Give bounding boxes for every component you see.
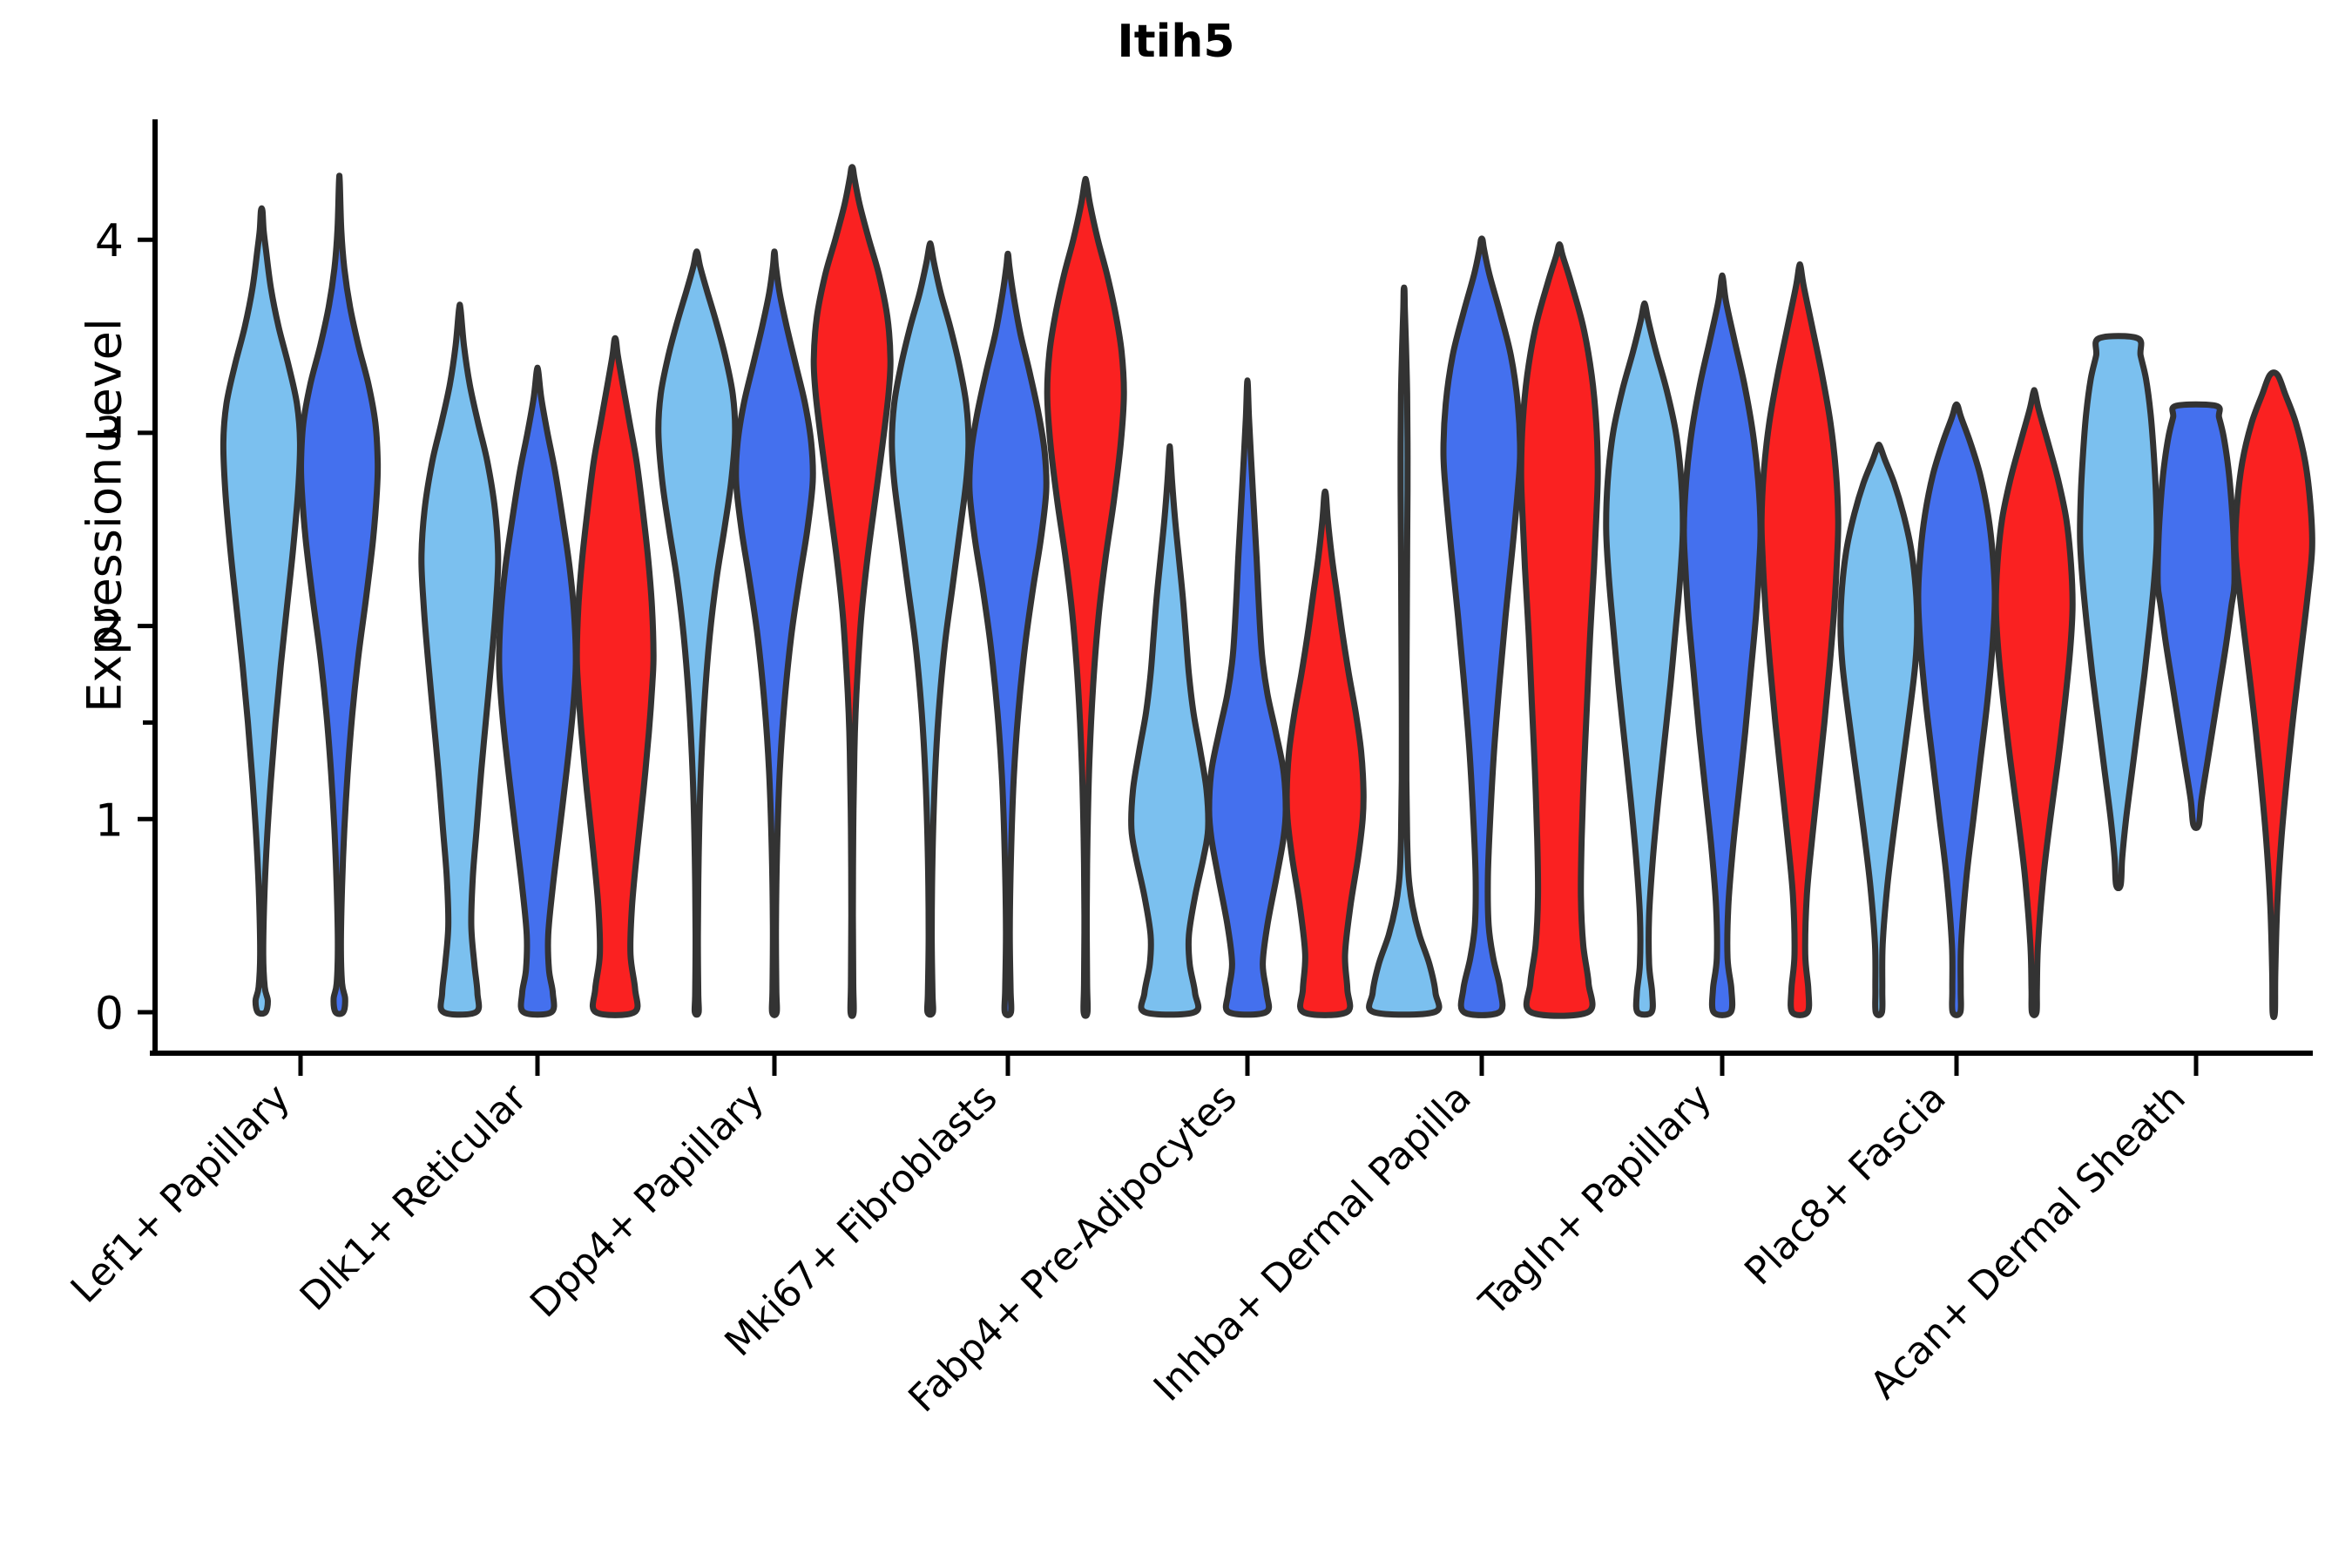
plot-canvas: 01234 Lef1+ PapillaryDlk1+ ReticularDpp4… <box>0 0 2352 1568</box>
violin-4-blue <box>970 253 1046 1015</box>
y-tick-label: 0 <box>95 988 124 1040</box>
violin-8-red <box>1996 390 2072 1015</box>
x-tick-label-1: Lef1+ Papillary <box>63 1076 299 1312</box>
violin-2-blue <box>499 368 576 1015</box>
violin-9-blue <box>2158 404 2234 828</box>
violin-7-red <box>1761 264 1838 1015</box>
violin-3-light-blue <box>659 252 735 1015</box>
x-tick-label-3: Dpp4+ Papillary <box>522 1076 773 1327</box>
violin-6-blue <box>1443 239 1520 1016</box>
violin-6-red <box>1521 244 1598 1016</box>
violin-8-light-blue <box>1841 444 1917 1015</box>
violin-2-red <box>577 338 653 1015</box>
violin-5-red <box>1287 491 1363 1015</box>
violin-8-blue <box>1918 404 1995 1015</box>
violin-3-blue <box>736 252 813 1016</box>
violin-1-light-blue <box>223 208 300 1013</box>
x-tick-labels-layer: Lef1+ PapillaryDlk1+ ReticularDpp4+ Papi… <box>63 1053 2196 1421</box>
x-tick-label-2: Dlk1+ Reticular <box>292 1075 537 1320</box>
violin-7-blue <box>1684 275 1761 1015</box>
violin-9-light-blue <box>2080 336 2157 889</box>
violin-5-light-blue <box>1132 446 1208 1014</box>
violin-6-light-blue <box>1369 287 1440 1015</box>
y-tick-label: 3 <box>95 409 124 461</box>
y-tick-label: 1 <box>95 794 124 847</box>
violin-3-red <box>814 167 890 1016</box>
violin-7-light-blue <box>1606 303 1683 1014</box>
x-tick-label-8: Plac8+ Fascia <box>1736 1076 1955 1294</box>
violins-layer <box>223 167 2312 1017</box>
violin-9-red <box>2235 373 2312 1017</box>
x-tick-label-7: TagIn+ Papillary <box>1470 1076 1720 1326</box>
violin-4-light-blue <box>892 243 969 1014</box>
violin-5-blue <box>1209 381 1286 1015</box>
violin-1-blue <box>301 176 377 1014</box>
violin-plot-figure: Itih5 Expression Level 01234 Lef1+ Papil… <box>0 0 2352 1568</box>
y-tick-label: 4 <box>95 215 124 267</box>
violin-4-red <box>1047 179 1124 1016</box>
y-tick-label: 2 <box>95 602 124 654</box>
violin-2-light-blue <box>422 305 498 1015</box>
